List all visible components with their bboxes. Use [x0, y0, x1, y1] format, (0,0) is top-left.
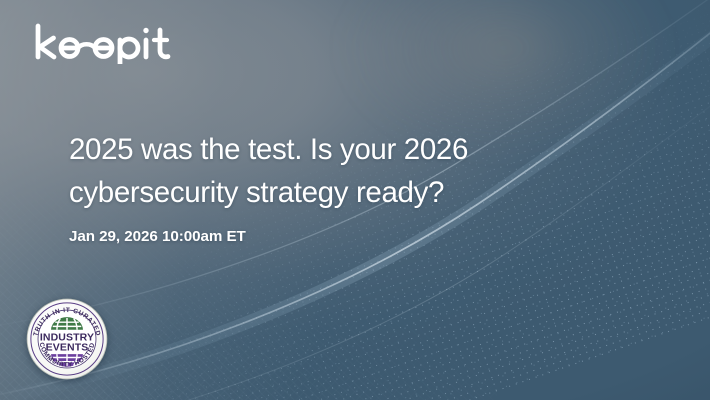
promo-copy-block: 2025 was the test. Is your 2026 cybersec…	[69, 128, 539, 245]
badge-center-line-2: EVENTS	[46, 342, 89, 354]
industry-events-badge: INDUSTRY EVENTS TRUTH IN IT CURATED COMM…	[25, 297, 109, 381]
page-title: 2025 was the test. Is your 2026 cybersec…	[69, 128, 539, 214]
keepit-logo	[32, 22, 172, 64]
event-datetime: Jan 29, 2026 10:00am ET	[69, 228, 539, 245]
promo-slide: 2025 was the test. Is your 2026 cybersec…	[0, 0, 710, 400]
